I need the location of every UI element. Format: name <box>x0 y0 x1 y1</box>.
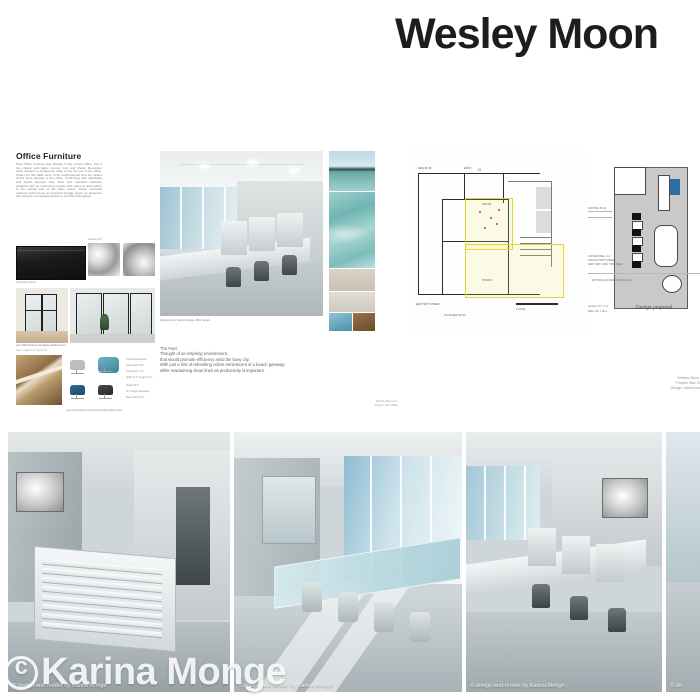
cad-floor-plan: EXISTING PLAN JAR REMODEL, LLC 445 EAST … <box>586 155 700 327</box>
office-chair <box>570 596 588 620</box>
chair-catalog: Overall Dimensions Seat Width 18.5" Seat… <box>66 355 156 407</box>
chair-thumb-dark <box>96 382 115 401</box>
street-label: EAST 56TH STREET <box>416 303 440 306</box>
watermark-text: Karina Monge <box>41 651 286 694</box>
workstation <box>277 213 303 247</box>
floor <box>466 612 662 692</box>
highlight-box-2 <box>465 244 564 298</box>
render-sliver: © de <box>666 432 700 692</box>
feel-line: while maintaining clean lines as product… <box>160 368 360 373</box>
ceiling-light <box>200 165 209 168</box>
workstation <box>221 221 247 255</box>
north-arrow-label: N <box>478 167 481 172</box>
workstation <box>562 536 590 574</box>
watermark: Karina Monge <box>4 651 286 694</box>
chair-thumb-gray <box>68 357 87 376</box>
plan-accent-blue <box>670 179 680 195</box>
presentation-board: Office Furniture Most Office furniture w… <box>8 143 700 428</box>
chair <box>338 592 358 622</box>
ceiling-light <box>290 169 299 172</box>
signature-designer: Design: Karina Monge <box>608 386 700 391</box>
catalog-spec: Width 21.6" Length 21.6" <box>126 376 156 380</box>
catalog-footer-link[interactable]: www.hermanmiller.com/products/seating/of… <box>66 409 122 412</box>
plan-address: 445 EAST 56TH STREET <box>588 259 615 262</box>
plan-table <box>654 225 678 267</box>
chair <box>302 582 322 612</box>
wall-art-marble <box>16 472 64 512</box>
catalog-spec: Base Width 23.6" <box>126 396 156 400</box>
signature-left: Wesley Moon Inc. Project: Box Office <box>338 400 398 408</box>
office-chair <box>608 608 626 632</box>
screenshot-canvas: Wesley Moon Office Furniture Most Office… <box>0 0 700 700</box>
marble-swatch-1 <box>88 243 120 276</box>
render-caption: © design and render by Karina Monge <box>470 683 565 689</box>
catalog-caption: Seat: Length 21.6", Depth 20" <box>16 349 48 352</box>
catalog-spec: Height 32.5" <box>126 384 156 388</box>
office-chair <box>532 584 550 608</box>
workstation <box>249 217 275 251</box>
office-chair <box>254 261 269 281</box>
marked-floor-plan: NEW 56'-34' EXIST N OFFICE STUDIO EAST 5… <box>408 151 588 331</box>
plan-fixture <box>658 175 670 211</box>
render-caption: © de <box>670 683 682 689</box>
catalog-spec: Arm Height adjustable <box>126 390 156 394</box>
ceiling-light <box>248 161 257 164</box>
render-workstations: © design and render by Karina Monge <box>466 432 662 692</box>
tile-texture-swatch <box>329 292 375 312</box>
wall-art-marble <box>602 478 648 518</box>
office-chair <box>282 255 297 275</box>
handwritten-note: PLAN NEW 56'-34' <box>444 314 466 317</box>
signature-right: Wesley Moon Inc. Project: Box Office Des… <box>608 376 700 391</box>
office-furniture-heading: Office Furniture <box>16 151 81 161</box>
wood-accent-swatch <box>353 313 375 331</box>
doorway <box>176 487 210 585</box>
copyright-icon <box>4 656 38 690</box>
plan-sheet-number: DWG. NO. 1 SK-1 <box>588 310 607 313</box>
workstation <box>596 544 624 582</box>
sand-texture-swatch <box>329 269 375 291</box>
plan-room <box>614 167 646 195</box>
design-proposal-label: Design proposal <box>636 305 672 311</box>
catalog-spec: Overall Dimensions <box>126 358 156 362</box>
plant-icon <box>100 314 109 330</box>
beach-photo-swatch <box>329 151 375 191</box>
plan-note-topright: EXIST <box>464 167 471 170</box>
main-office-render <box>160 151 323 316</box>
glass-door-photo-1 <box>16 288 68 343</box>
floor <box>666 582 700 692</box>
office-furniture-body: Most Office furniture was already in the… <box>16 163 102 199</box>
plan-address-2: NEW YORK, NEW YORK 10022 <box>588 263 623 266</box>
plan-legend-title: EXISTING PLAN <box>588 207 606 210</box>
floor-strip <box>70 334 155 343</box>
window-light <box>666 432 700 582</box>
cabinet-swatch-label: overhead cabinet <box>16 281 36 284</box>
plan-scale: SCALE: 1/8" = 1'-0" <box>588 305 609 308</box>
chair-thumb-blue <box>68 382 87 401</box>
floor-strip <box>16 331 68 343</box>
glass-partition <box>262 476 316 544</box>
blue-accent-swatch <box>329 313 352 331</box>
wood-detail-photo <box>16 355 62 405</box>
catalog-spec: Seat Depth 17.4" <box>126 370 156 374</box>
scale-ticks: 2 4 8 16 <box>516 308 525 311</box>
plan-note-topleft: NEW 56'-34' <box>418 167 432 170</box>
marble-swatch-label: marble print <box>88 238 102 241</box>
drawer-stack <box>42 559 162 641</box>
workstation <box>528 528 556 566</box>
office-chair <box>226 267 241 287</box>
room-label: OFFICE <box>482 203 491 206</box>
page-title: Wesley Moon <box>395 6 700 62</box>
plan-firm: JAR REMODEL, LLC <box>588 255 611 258</box>
catalog-spec: Seat Width 18.5" <box>126 364 156 368</box>
chair-thumb-teal <box>96 355 122 379</box>
glass-partition-photo-2 <box>70 288 155 343</box>
chair <box>410 612 430 642</box>
room-label: STUDIO <box>482 279 491 282</box>
water-photo-swatch <box>329 192 375 268</box>
marble-swatch-2 <box>123 243 155 276</box>
overhead-cabinet-swatch <box>16 246 86 280</box>
the-feel-block: The Feel: Thought of an inspiring enviro… <box>160 346 360 373</box>
product-link[interactable]: www.officefurniture.com/glass-partition-… <box>16 344 66 347</box>
main-render-caption: Rendering by Karina Monge, Office Space <box>160 319 210 322</box>
signature-project: Project: Box Office <box>338 404 398 408</box>
chair <box>374 602 394 632</box>
plan-seating <box>662 275 682 293</box>
plan-sheet-title: EXISTING AND REFLECTION PLAN <box>592 279 631 282</box>
